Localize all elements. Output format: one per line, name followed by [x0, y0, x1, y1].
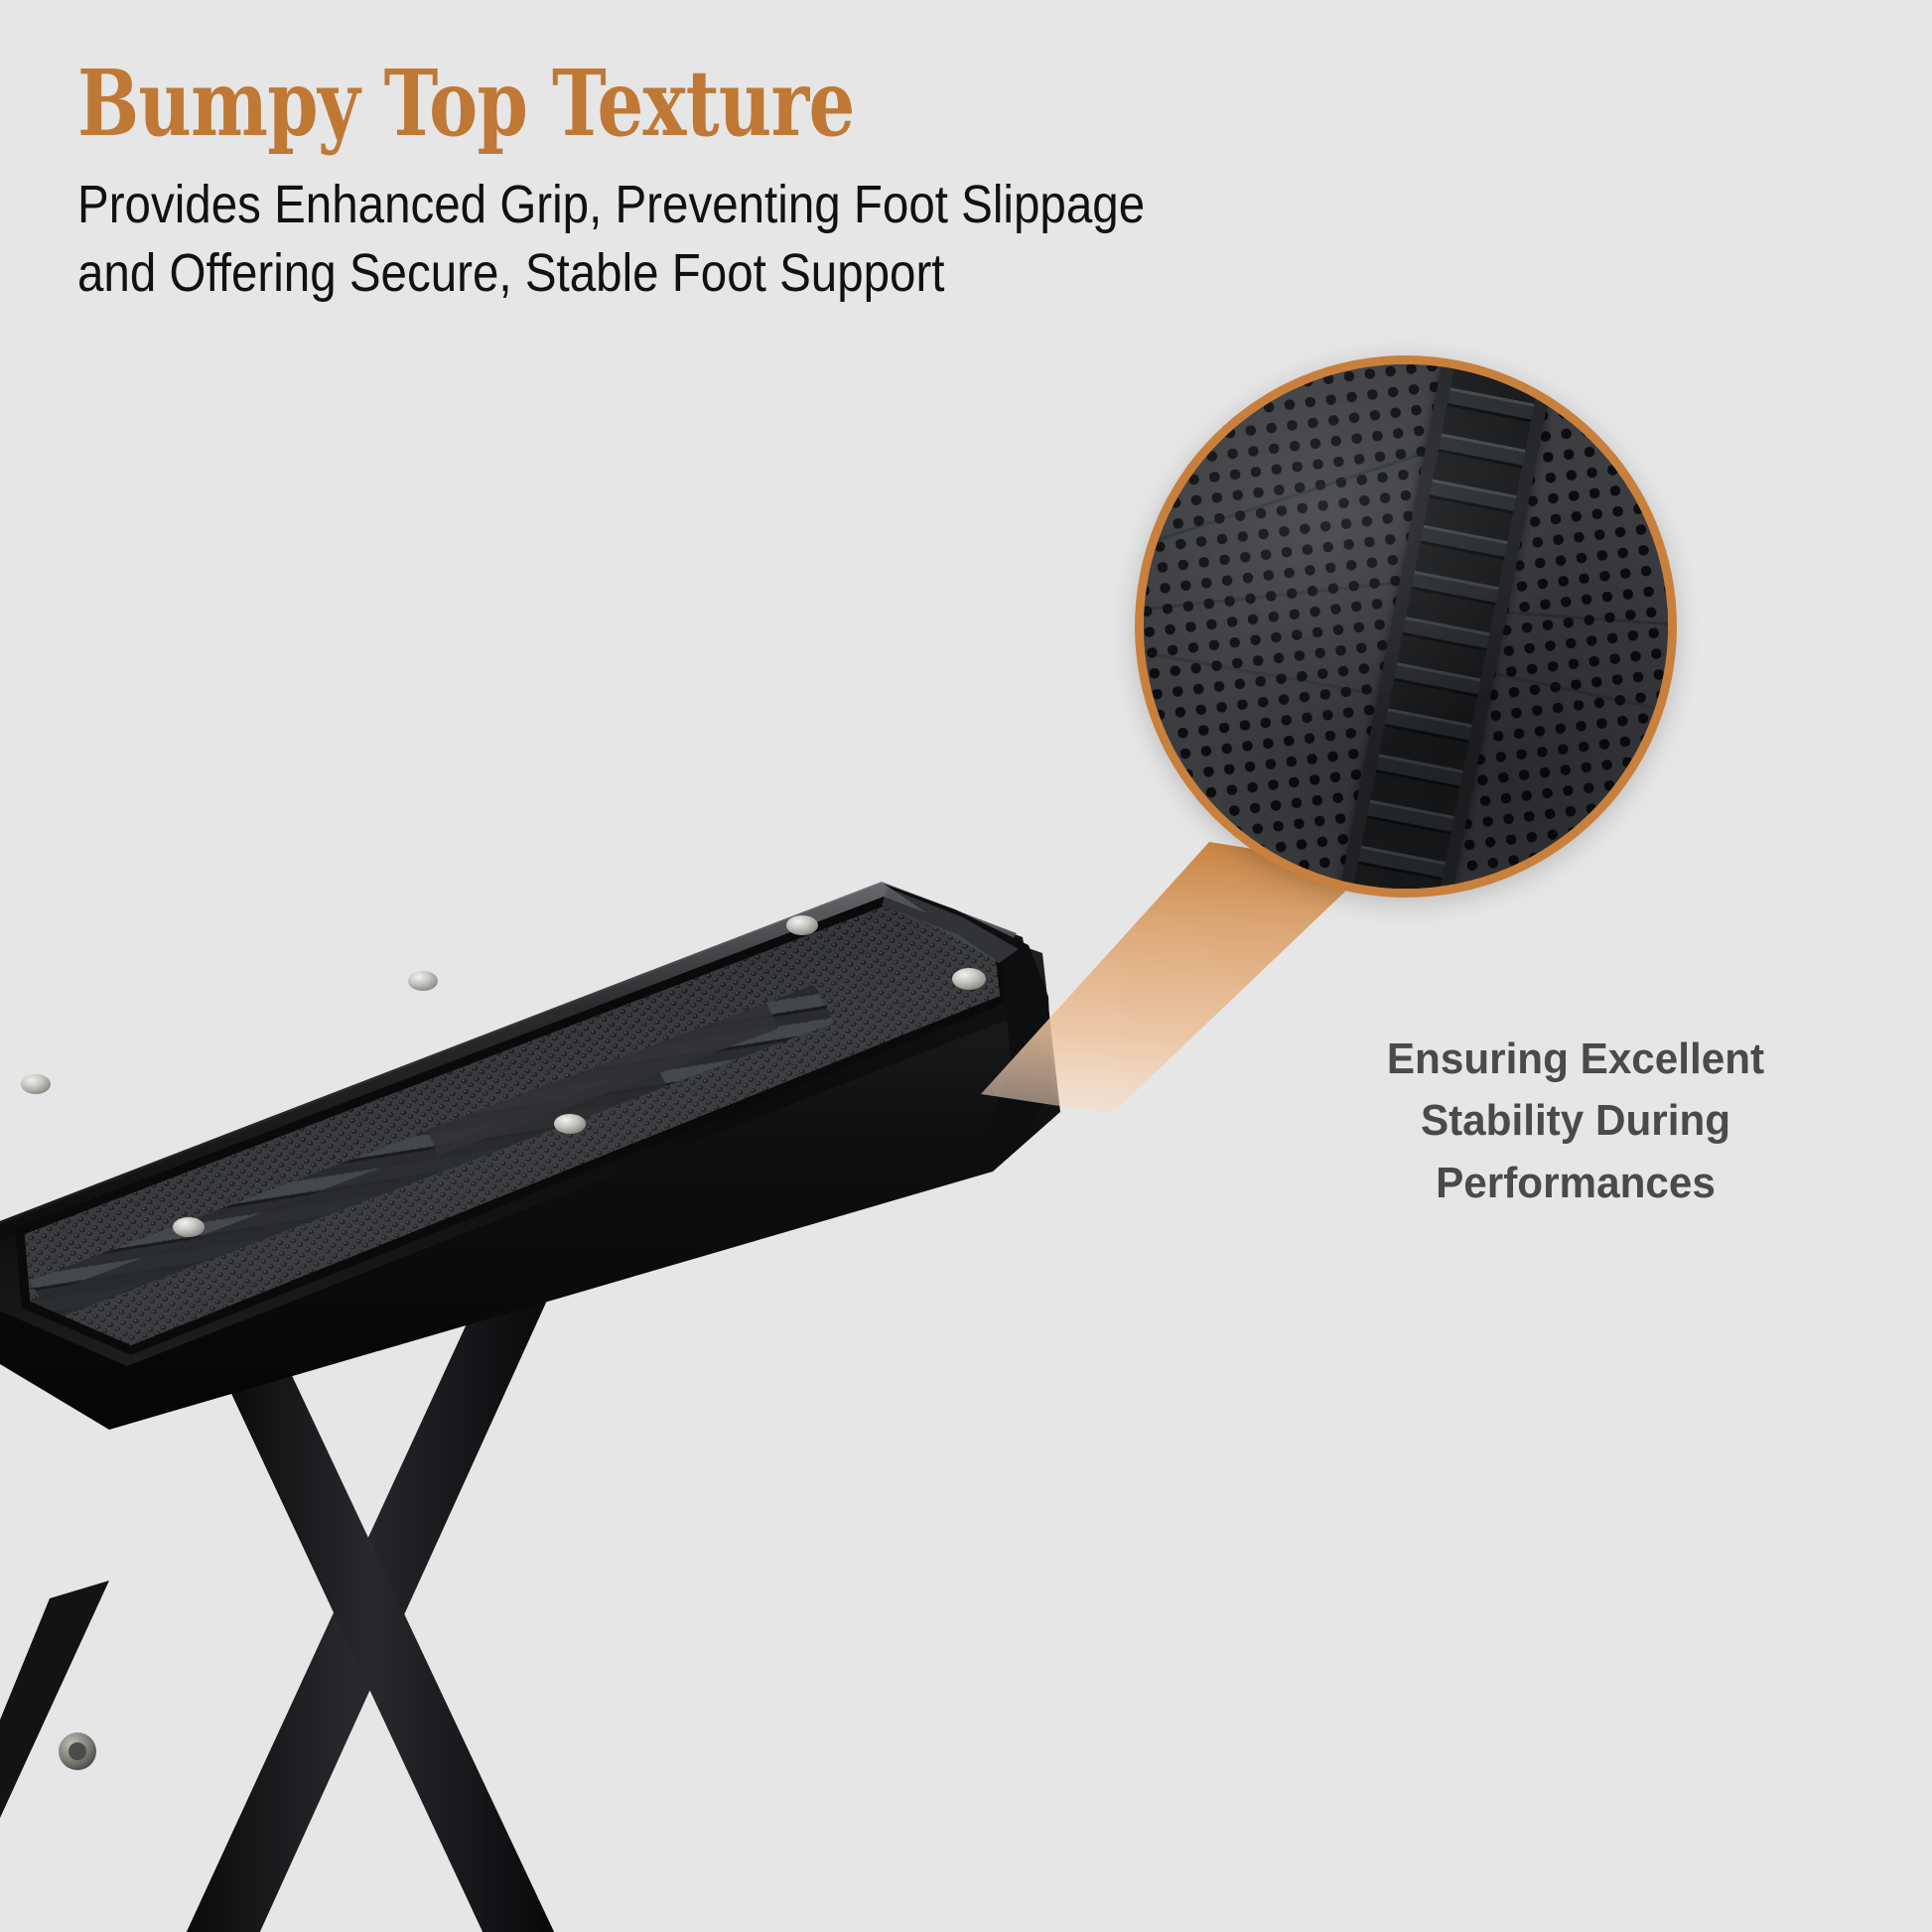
product-feature-graphic: Bumpy Top Texture Provides Enhanced Grip…: [0, 0, 1932, 1932]
caption-line-2: Stability During: [1351, 1090, 1799, 1152]
subtitle-line-2: and Offering Secure, Stable Foot Support: [77, 239, 1213, 308]
caption-line-3: Performances: [1351, 1153, 1799, 1214]
magnifier-lens-content: [1144, 364, 1668, 889]
page-title: Bumpy Top Texture: [77, 58, 1110, 149]
product-image-footstool: [0, 814, 1112, 1932]
subtitle-line-1: Provides Enhanced Grip, Preventing Foot …: [77, 171, 1213, 239]
caption-line-1: Ensuring Excellent: [1351, 1029, 1799, 1090]
feature-caption: Ensuring Excellent Stability During Perf…: [1351, 1029, 1799, 1214]
headline-block: Bumpy Top Texture Provides Enhanced Grip…: [77, 58, 1368, 308]
magnifier-lens: [1135, 355, 1677, 897]
lens-shading: [1144, 364, 1668, 889]
footstool-illustration: [0, 814, 1112, 1932]
